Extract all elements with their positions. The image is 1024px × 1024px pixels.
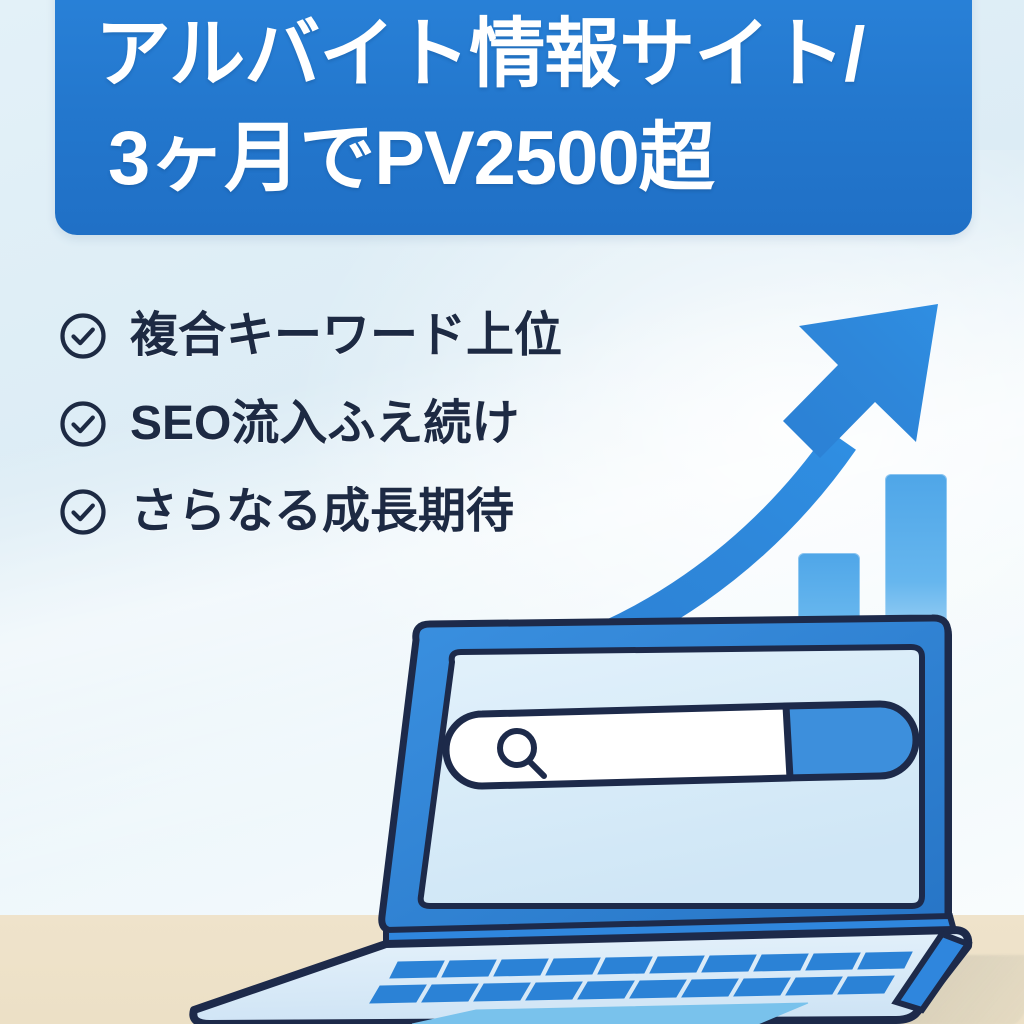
- banner-title-line-2: 3ヶ月でPV2500超: [55, 107, 972, 211]
- list-item-label: SEO流入ふえ続け: [130, 398, 519, 450]
- laptop-illustration: [180, 600, 980, 1024]
- list-item-label: さらなる成長期待: [130, 486, 514, 538]
- circle-check-icon: [58, 487, 108, 537]
- header-banner: アルバイト情報サイト/ 3ヶ月でPV2500超: [55, 0, 972, 235]
- banner-title-line-1: アルバイト情報サイト/: [55, 3, 972, 107]
- circle-check-icon: [58, 311, 108, 361]
- search-bar[interactable]: [446, 704, 916, 786]
- list-item-label: 複合キーワード上位: [130, 310, 562, 362]
- poster-canvas: アルバイト情報サイト/ 3ヶ月でPV2500超 複合キーワード上位 SEO流入ふ…: [0, 0, 1024, 1024]
- circle-check-icon: [58, 399, 108, 449]
